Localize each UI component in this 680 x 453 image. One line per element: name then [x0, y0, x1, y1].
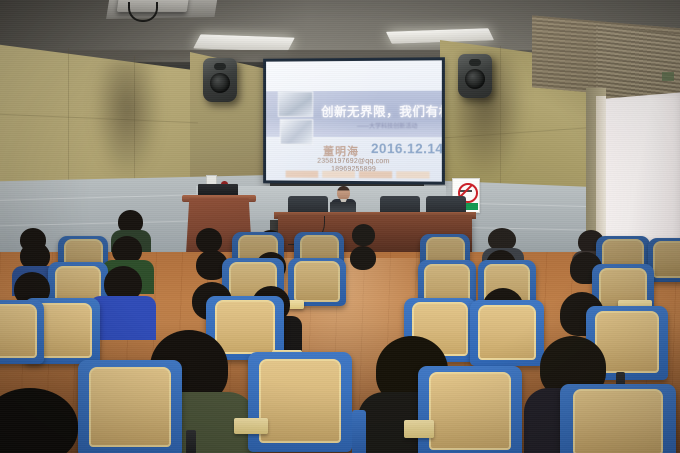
- seat-back-pad: [653, 241, 680, 278]
- seat-back-pad: [215, 300, 276, 354]
- slide-color-swatches: [286, 171, 430, 179]
- slide-subtitle: ——大学科技创新活动: [357, 121, 417, 130]
- swatch: [286, 171, 319, 178]
- person-head: [350, 246, 376, 270]
- slide-presenter-name: 董明海: [323, 143, 359, 159]
- seat-back-pad: [573, 389, 663, 453]
- slide-title: 创新无界限，我们有机会: [321, 101, 442, 120]
- seat-back-pad: [259, 359, 340, 443]
- slide-image-bottom: [280, 119, 313, 145]
- speaker-cone: [465, 69, 485, 89]
- seat-back-pad: [429, 372, 510, 449]
- wall-panel-seam: [68, 48, 69, 180]
- swatch: [359, 171, 392, 178]
- seat-back-pad: [89, 367, 170, 448]
- right-window: [600, 92, 680, 260]
- speaker-tweeter: [469, 59, 481, 66]
- wall-smudge-left: [92, 60, 162, 180]
- slide-email: 2358197692@qq.com: [317, 158, 389, 165]
- wall-vent-icon: [662, 72, 674, 81]
- speaker-cone: [210, 73, 230, 93]
- swatch: [322, 171, 355, 178]
- speaker-left-icon: [203, 58, 237, 102]
- speaker-tweeter: [214, 63, 226, 70]
- auditorium-seat: [78, 360, 182, 453]
- slide-image-top: [278, 91, 313, 117]
- seat-back-pad: [294, 261, 339, 301]
- seat-writing-tablet: [234, 418, 268, 434]
- seat-writing-tablet: [404, 420, 434, 438]
- auditorium-seat: [0, 300, 44, 364]
- seat-back-pad: [0, 304, 37, 358]
- auditorium-seat: [560, 384, 676, 453]
- lecture-hall-photo: 创新无界限，我们有机会 ——大学科技创新活动 董明海 2016.12.14 23…: [0, 0, 680, 453]
- projection-screen-frame: 创新无界限，我们有机会 ——大学科技创新活动 董明海 2016.12.14 23…: [263, 57, 445, 184]
- speaker-right-icon: [458, 54, 492, 98]
- auditorium-seat: [248, 352, 352, 452]
- wall-panel-seam: [500, 46, 501, 186]
- auditorium-seat: [418, 366, 522, 453]
- seat-side-panel: [352, 410, 366, 453]
- auditorium-seat: [470, 300, 544, 366]
- presenter-head: [337, 186, 350, 200]
- projection-screen: 创新无界限，我们有机会 ——大学科技创新活动 董明海 2016.12.14 23…: [266, 60, 442, 181]
- person-head: [352, 224, 375, 246]
- auditorium-seat: [288, 258, 346, 306]
- swatch: [396, 171, 429, 178]
- slide-date: 2016.12.14: [371, 141, 442, 156]
- seat-back-pad: [478, 305, 536, 360]
- seat-leg: [186, 430, 196, 453]
